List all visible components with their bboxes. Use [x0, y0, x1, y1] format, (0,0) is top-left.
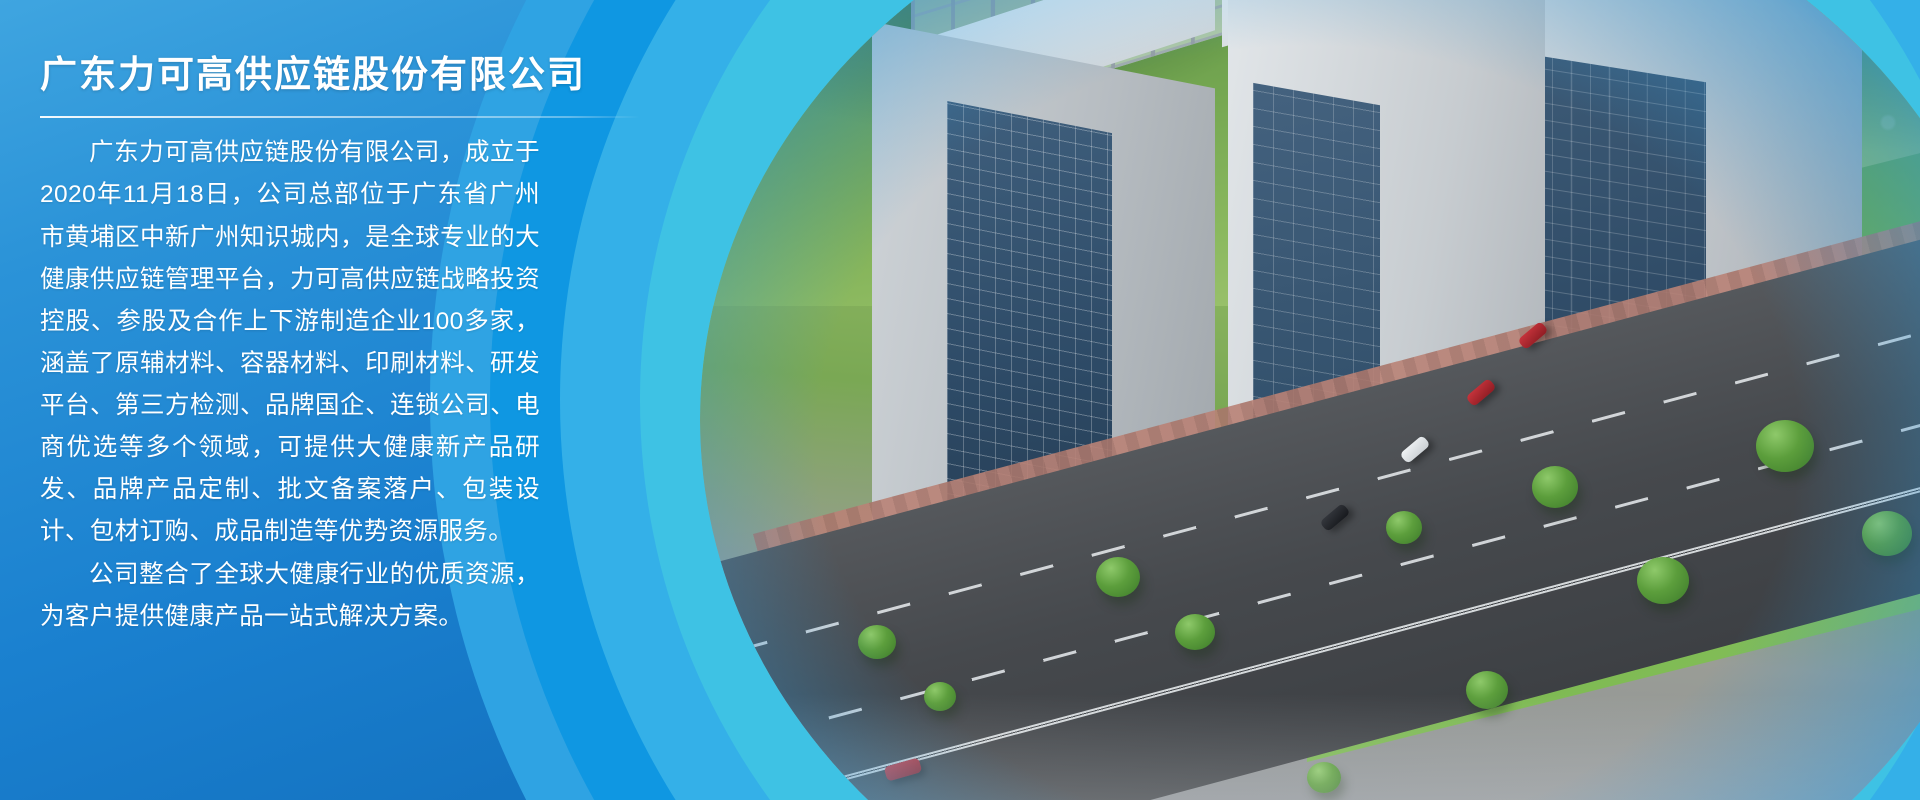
company-description: 广东力可高供应链股份有限公司，成立于2020年11月18日，公司总部位于广东省广…	[40, 132, 600, 638]
paragraph-2: 公司整合了全球大健康行业的优质资源，为客户提供健康产品一站式解决方案。	[40, 554, 540, 638]
company-profile-banner: 广东力可高供应链股份有限公司 广东力可高供应链股份有限公司，成立于2020年11…	[0, 0, 1920, 800]
campus-rendering-photo	[700, 0, 1920, 800]
text-panel: 广东力可高供应链股份有限公司 广东力可高供应链股份有限公司，成立于2020年11…	[0, 0, 660, 800]
title-divider	[40, 116, 640, 118]
page-title: 广东力可高供应链股份有限公司	[40, 52, 600, 98]
photo-edge-fade	[700, 0, 1920, 800]
paragraph-1: 广东力可高供应链股份有限公司，成立于2020年11月18日，公司总部位于广东省广…	[40, 132, 540, 553]
